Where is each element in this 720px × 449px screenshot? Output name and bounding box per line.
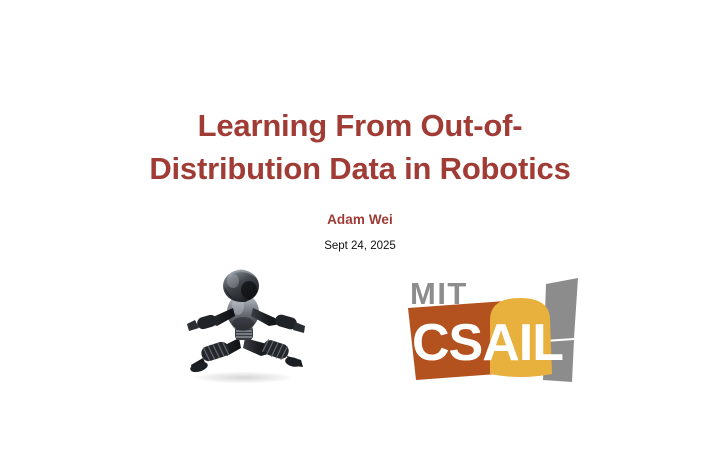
csail-wordmark: CSAIL: [412, 314, 563, 372]
title-line-1: Learning From Out-of-: [0, 104, 720, 147]
title-line-2: Distribution Data in Robotics: [0, 147, 720, 190]
mit-wordmark: MIT: [410, 278, 468, 309]
robot-right-arm: [251, 308, 305, 333]
author-name: Adam Wei: [0, 212, 720, 227]
title-slide: Learning From Out-of- Distribution Data …: [0, 0, 720, 449]
page-title: Learning From Out-of- Distribution Data …: [0, 104, 720, 190]
robot-shadow: [195, 372, 291, 383]
robot-back-leg: [243, 338, 303, 368]
mit-csail-logo: CSAIL MIT: [402, 276, 592, 388]
running-robot-image: [183, 268, 309, 390]
robot-head: [223, 269, 259, 302]
robot-left-arm: [187, 308, 235, 331]
presentation-date: Sept 24, 2025: [0, 240, 720, 252]
robot-front-leg: [189, 338, 241, 374]
